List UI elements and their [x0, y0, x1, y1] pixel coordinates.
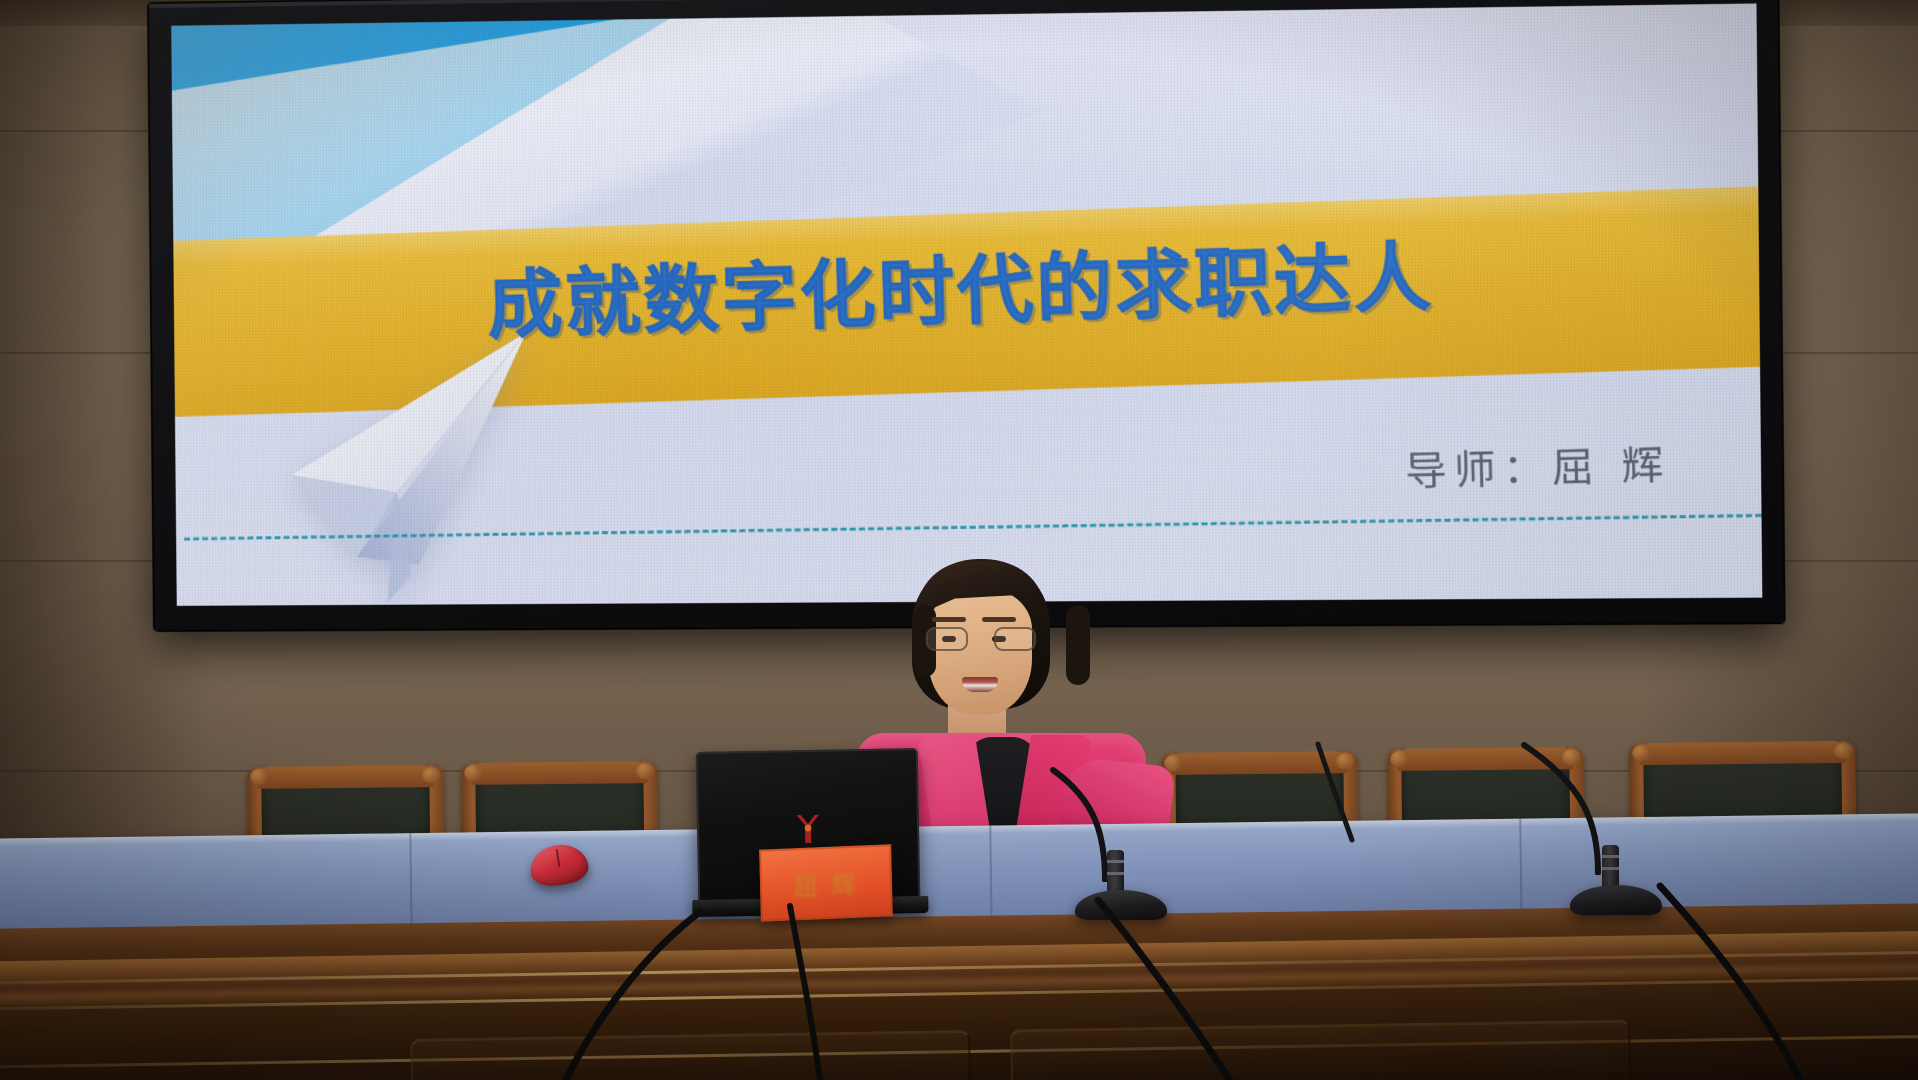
hair-side	[1066, 605, 1090, 685]
glasses-lens	[926, 627, 968, 651]
slide-presenter-label: 导师：屈 辉	[1405, 432, 1672, 498]
photo-scene: 成就数字化时代的求职达人 导师：屈 辉	[0, 0, 1918, 1080]
gooseneck-microphone-left	[1075, 800, 1205, 920]
mouth	[962, 677, 998, 692]
chair-knob	[250, 769, 268, 785]
paper-plane-icon	[194, 321, 660, 606]
eyebrow	[932, 617, 966, 622]
name-card-text: 屈 辉	[759, 844, 893, 922]
podium-panel	[1010, 1020, 1631, 1080]
chair-knob	[1390, 751, 1408, 767]
presentation-slide: 成就数字化时代的求职达人 导师：屈 辉	[171, 3, 1762, 605]
chair-knob	[1336, 753, 1354, 769]
chair-knob	[636, 763, 654, 779]
microphone-ring	[1602, 855, 1619, 858]
chair-top-rail	[1171, 751, 1347, 775]
name-card: 屈 辉	[759, 844, 893, 922]
gooseneck-microphone-right	[1570, 790, 1700, 915]
legion-y-logo-icon	[793, 813, 824, 846]
microphone-ring	[1107, 872, 1124, 875]
led-display: 成就数字化时代的求职达人 导师：屈 辉	[149, 0, 1784, 630]
podium-panel	[410, 1030, 971, 1080]
chair-top-rail	[1639, 741, 1845, 765]
glasses-lens	[994, 627, 1036, 651]
microphone-ring	[1107, 860, 1124, 863]
chair-knob	[464, 765, 482, 781]
microphone-base	[1570, 885, 1662, 915]
glasses-icon	[926, 627, 1036, 653]
mouse-button-split	[556, 849, 560, 867]
eyebrow	[982, 617, 1016, 622]
chair-knob	[1164, 755, 1182, 771]
microphone-ring	[1602, 867, 1619, 870]
chair-knob	[1834, 743, 1852, 759]
chair-top-rail	[471, 761, 647, 785]
chair-knob	[422, 767, 440, 783]
chair-top-rail	[257, 765, 433, 789]
microphone-base	[1075, 890, 1167, 920]
